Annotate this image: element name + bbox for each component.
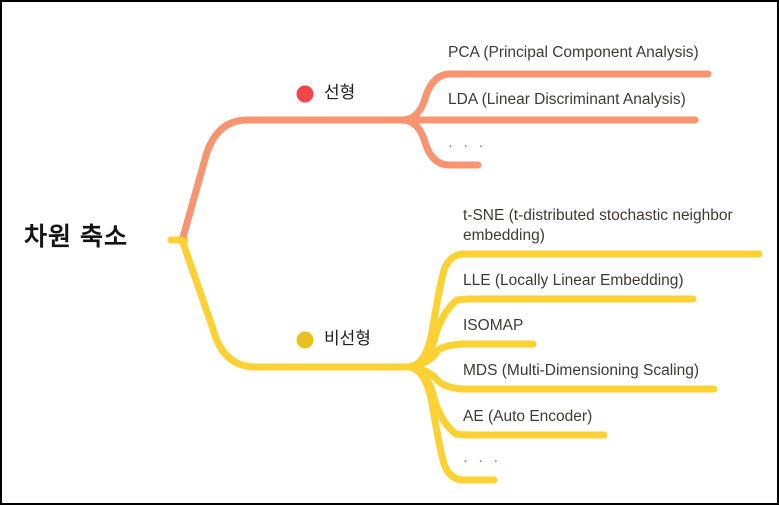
category-label-nonlinear[interactable]: 비선형	[324, 329, 371, 349]
linear-node-marker-icon	[297, 86, 314, 103]
leaf-label-linear-more[interactable]: · · ·	[448, 137, 486, 154]
category-label-linear[interactable]: 선형	[324, 83, 355, 103]
leaf-label-pca[interactable]: PCA (Principal Component Analysis)	[448, 43, 699, 63]
leaf-label-lle[interactable]: LLE (Locally Linear Embedding)	[463, 271, 684, 291]
leaf-label-mds[interactable]: MDS (Multi-Dimensioning Scaling)	[463, 361, 699, 381]
mindmap-canvas: 차원 축소 선형 비선형 PCA (Principal Component An…	[0, 0, 779, 505]
root-node-label: 차원 축소	[24, 223, 128, 252]
leaf-label-tsne[interactable]: t-SNE (t-distributed stochastic neighbor…	[463, 206, 733, 246]
nonlinear-leaf-line-lle	[410, 299, 693, 367]
leaf-label-ae[interactable]: AE (Auto Encoder)	[463, 407, 592, 427]
leaf-label-isomap[interactable]: ISOMAP	[463, 316, 523, 336]
leaf-label-lda[interactable]: LDA (Linear Discriminant Analysis)	[448, 90, 686, 110]
linear-trunk-line	[182, 120, 402, 241]
nonlinear-trunk-line	[182, 240, 410, 367]
nonlinear-node-marker-icon	[297, 332, 314, 349]
leaf-label-nonlinear-more[interactable]: · · ·	[463, 452, 501, 469]
mindmap-connector-lines	[2, 2, 779, 505]
